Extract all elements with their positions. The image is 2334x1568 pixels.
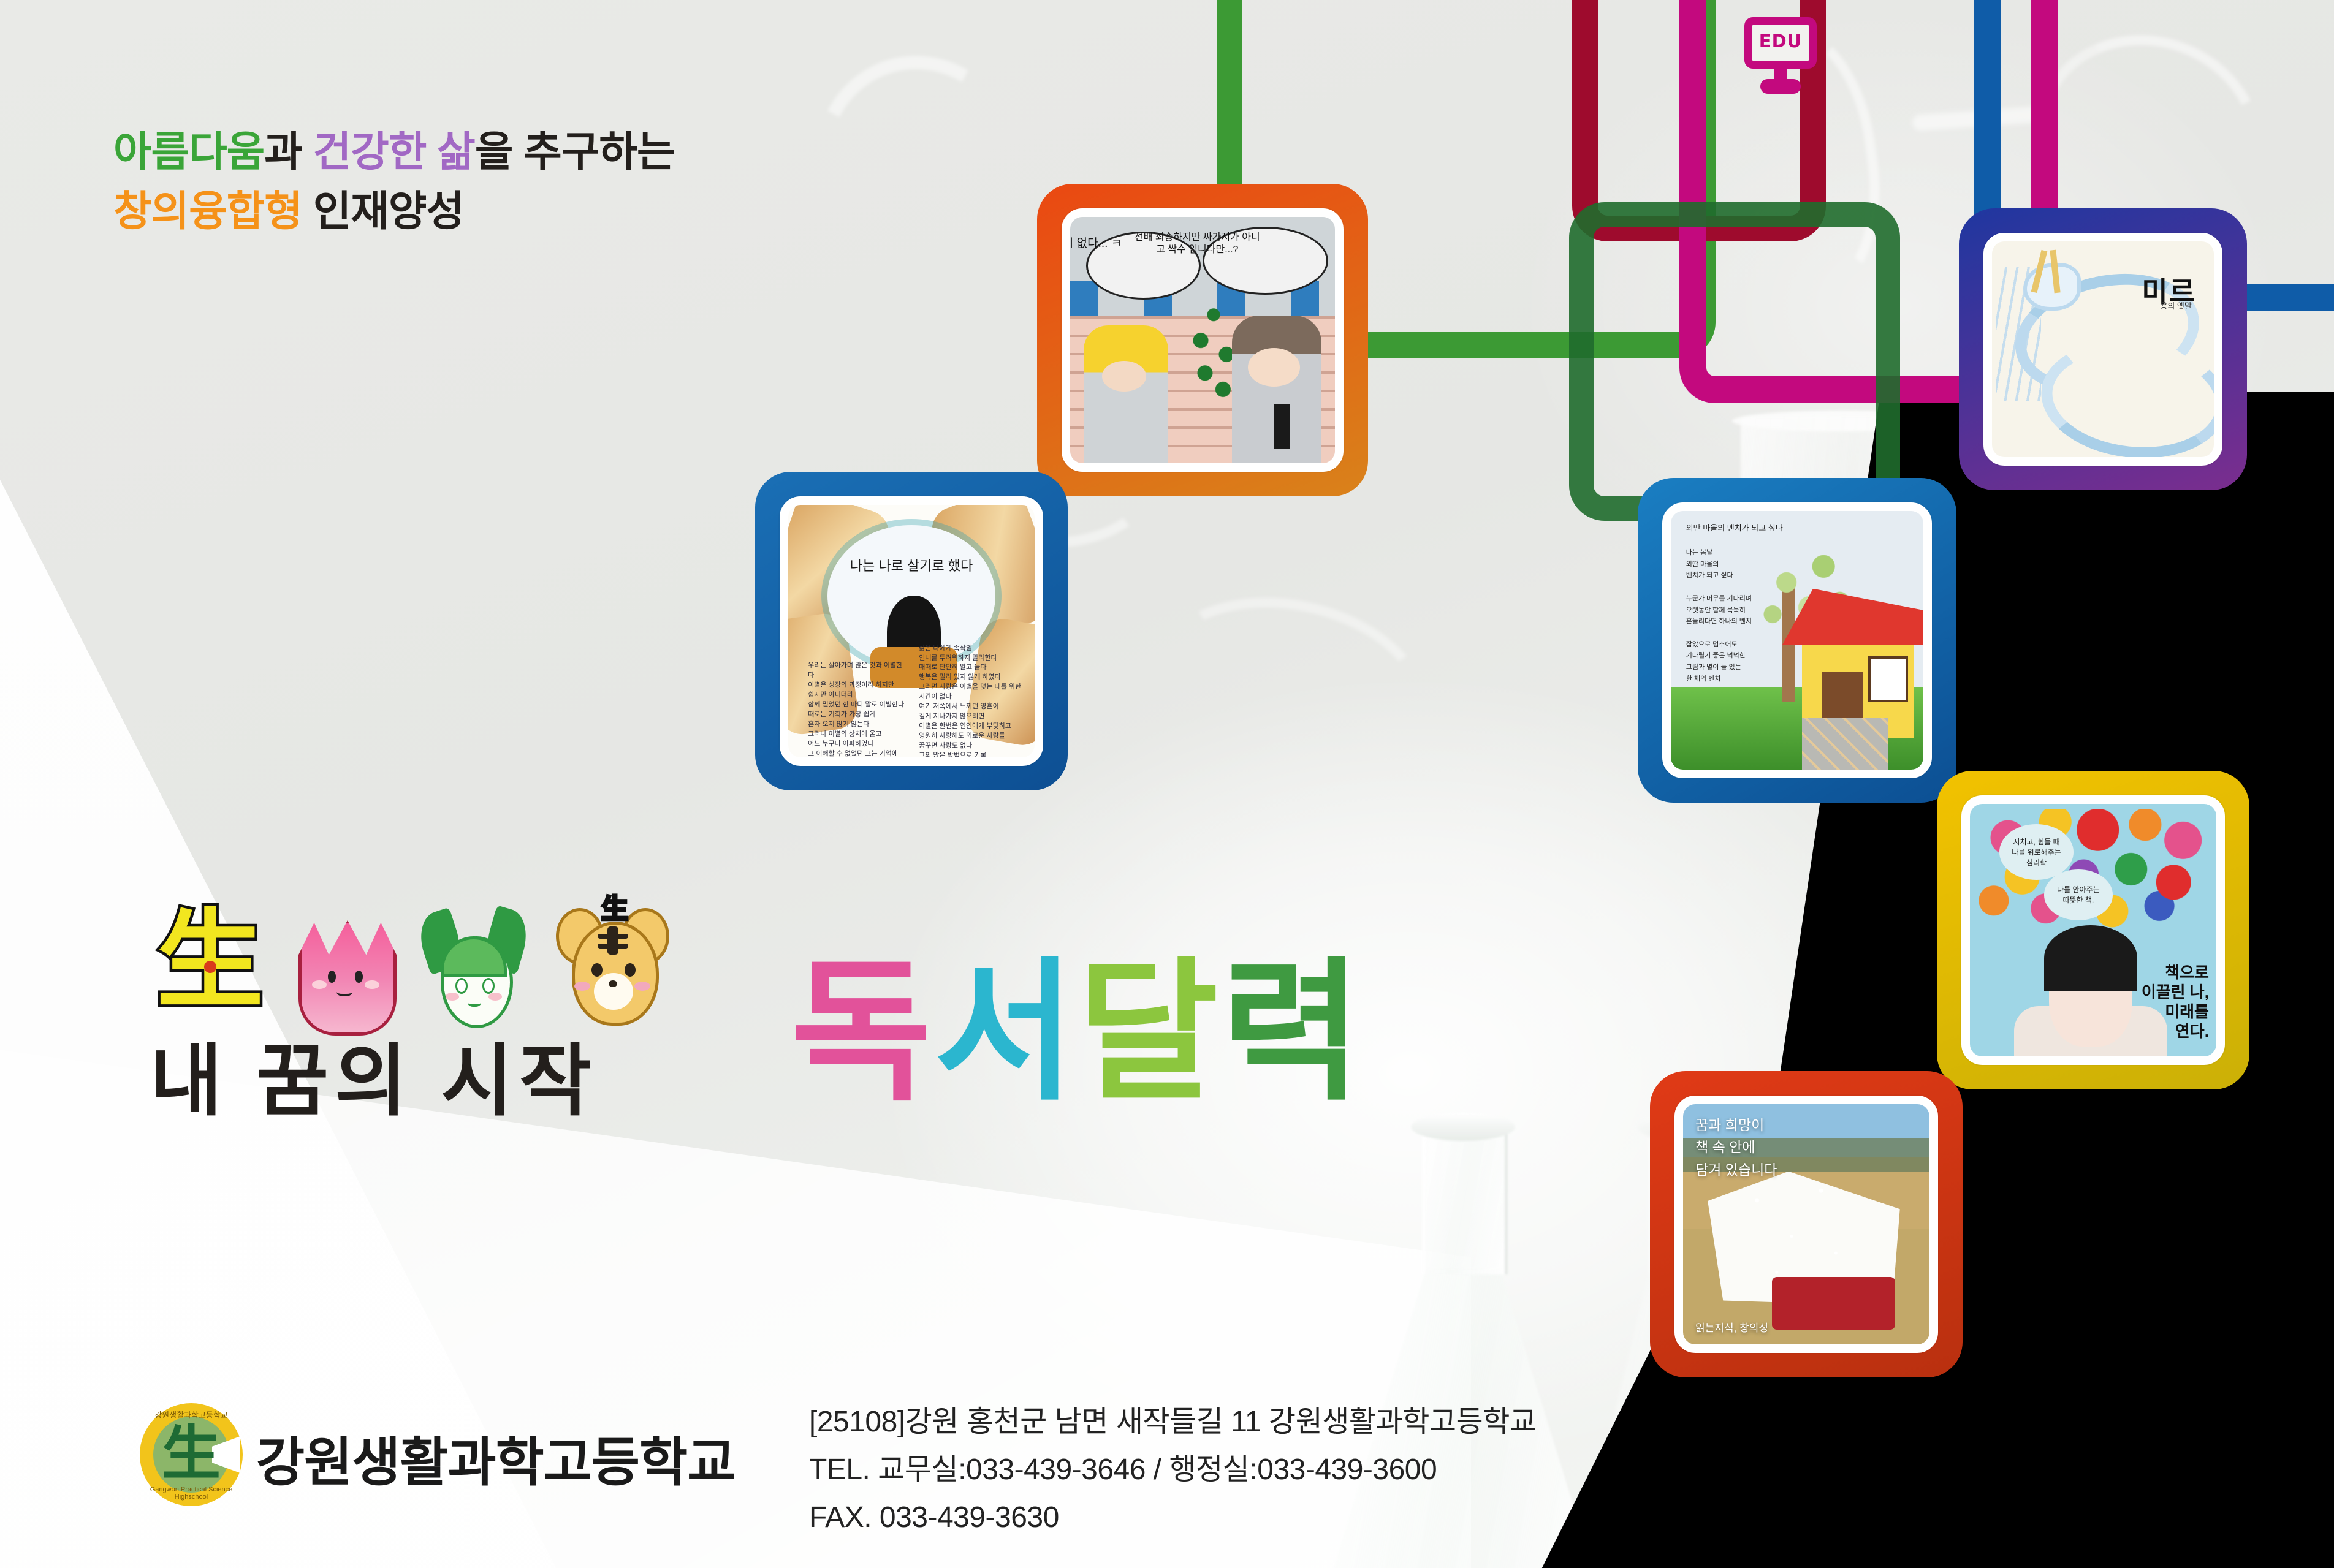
book-caption-bottom: 읽는지식, 창의성 (1695, 1319, 1768, 1335)
main-title-char: 독 (791, 956, 934, 1109)
hands-poem-right: 삶은 나에게 속삭임 인내를 두려워하지 말라한다 때때로 단단히 알고 들다 … (919, 644, 1022, 757)
webtoon-artwork: 너 진짜 싸가지 없다... ㅋㅋ 선배 죄송하지만 싸가지가 아니고 싹수 입… (1070, 217, 1335, 463)
tagline-line-2: 창의융합형 인재양성 (113, 182, 1033, 241)
dragon-subtitle: 용의 옛말 (2160, 300, 2191, 311)
book-caption-top: 꿈과 희망이 책 속 안에 담겨 있습니다 (1695, 1114, 1872, 1181)
open-book-artwork: 꿈과 희망이 책 속 안에 담겨 있습니다 읽는지식, 창의성 (1683, 1104, 1929, 1344)
tagline-seg: 을 추구하는 (475, 129, 675, 175)
contact-address: [25108]강원 홍천군 남면 새작들길 11 강원생활과학고등학교 (809, 1398, 1537, 1446)
main-title-char: 달 (1078, 956, 1221, 1109)
emblem-english-text: Gangwon Practical Science Highschool (140, 1486, 243, 1501)
frame-green-lower (1569, 202, 1900, 521)
house-poem-heading: 외딴 마을의 벤치가 되고 싶다 (1686, 521, 1783, 533)
dragon-artwork: 미르 용의 옛말 (1992, 241, 2214, 457)
school-name: 강원생활과학고등학교 (256, 1419, 735, 1496)
tagline: 아름다움과 건강한 삶을 추구하는 창의융합형 인재양성 (113, 123, 1033, 241)
tile-dragon-drawing[interactable]: 미르 용의 옛말 (1959, 208, 2247, 490)
main-title-char: 력 (1221, 956, 1364, 1109)
tiger-crown-glyph: 生 (601, 896, 626, 923)
school-emblem-icon: 강원생활과학고등학교 生 Gangwon Practical Science H… (140, 1403, 243, 1506)
emblem-center-mark: 生 (140, 1417, 243, 1490)
main-title-char: 서 (934, 956, 1078, 1109)
flower-bubble-2: 나를 안아주는 따뜻한 책. (2044, 869, 2113, 920)
tiger-mascot-icon: 生 (556, 907, 669, 1029)
tile-open-book-photo[interactable]: 꿈과 희망이 책 속 안에 담겨 있습니다 읽는지식, 창의성 (1650, 1071, 1963, 1377)
contact-block: [25108]강원 홍천군 남면 새작들길 11 강원생활과학고등학교 TEL.… (809, 1398, 1537, 1541)
tagline-seg: 아름다움 (113, 129, 264, 175)
flower-portrait-artwork: 지치고, 힘들 때 나를 위로해주는 심리학 나를 안아주는 따뜻한 책. 책으… (1970, 804, 2216, 1056)
webtoon-bubble-right-text: 선배 죄송하지만 싸가지가 아니고 싹수 입니다만...? (1134, 232, 1261, 256)
hands-poem-left: 우리는 살아가며 많은 것과 이별한다 이별은 성장의 과정이라 하지만 쉽지만… (808, 661, 907, 757)
saeng-logo-mascot-icon: 生 (156, 907, 264, 1020)
tagline-seg: 과 (264, 129, 313, 175)
edu-icon-label: EDU (1744, 31, 1817, 51)
tile-hands-poem[interactable]: 나는 나로 살기로 했다 우리는 살아가며 많은 것과 이별한다 이별은 성장의… (755, 472, 1068, 790)
edu-monitor-icon: EDU (1744, 17, 1824, 94)
main-title: 독서달력 (791, 956, 1364, 1109)
contact-tel: TEL. 교무실:033-439-3646 / 행정실:033-439-3600 (809, 1446, 1537, 1494)
flower-bubble-1: 지치고, 힘들 때 나를 위로해주는 심리학 (1999, 824, 2074, 880)
tulip-mascot-icon (298, 907, 390, 1029)
tagline-line-1: 아름다움과 건강한 삶을 추구하는 (113, 123, 1033, 182)
contact-fax: FAX. 033-439-3630 (809, 1494, 1537, 1542)
house-tree-artwork: 외딴 마을의 벤치가 되고 싶다 나는 봄날 외딴 마을의 벤치가 되고 싶다 … (1671, 511, 1923, 770)
tile-webtoon-manners[interactable]: 너 진짜 싸가지 없다... ㅋㅋ 선배 죄송하지만 싸가지가 아니고 싹수 입… (1037, 184, 1368, 496)
tile-house-tree-poem[interactable]: 외딴 마을의 벤치가 되고 싶다 나는 봄날 외딴 마을의 벤치가 되고 싶다 … (1638, 478, 1956, 803)
tagline-seg: 창의융합형 (113, 188, 302, 235)
mascot-row: 生 生 (156, 907, 708, 1029)
flower-caption: 책으로 이끌린 나, 미래를 연다. (2110, 963, 2209, 1041)
tagline-seg: 건강한 삶 (313, 129, 475, 175)
tagline-seg: 인재양성 (302, 188, 464, 235)
hands-poem-title: 나는 나로 살기로 했다 (837, 555, 985, 575)
webtoon-bubble-left-text: 너 진짜 싸가지 없다... ㅋㅋ (1070, 237, 1123, 265)
hands-poem-artwork: 나는 나로 살기로 했다 우리는 살아가며 많은 것과 이별한다 이별은 성장의… (788, 505, 1035, 757)
tile-flower-portrait[interactable]: 지치고, 힘들 때 나를 위로해주는 심리학 나를 안아주는 따뜻한 책. 책으… (1937, 771, 2249, 1089)
sub-title: 내 꿈의 시작 (150, 1017, 598, 1131)
sprout-mascot-icon (420, 907, 527, 1026)
poster-canvas: 너 진짜 싸가지 없다... ㅋㅋ 선배 죄송하지만 싸가지가 아니고 싹수 입… (0, 0, 2334, 1568)
